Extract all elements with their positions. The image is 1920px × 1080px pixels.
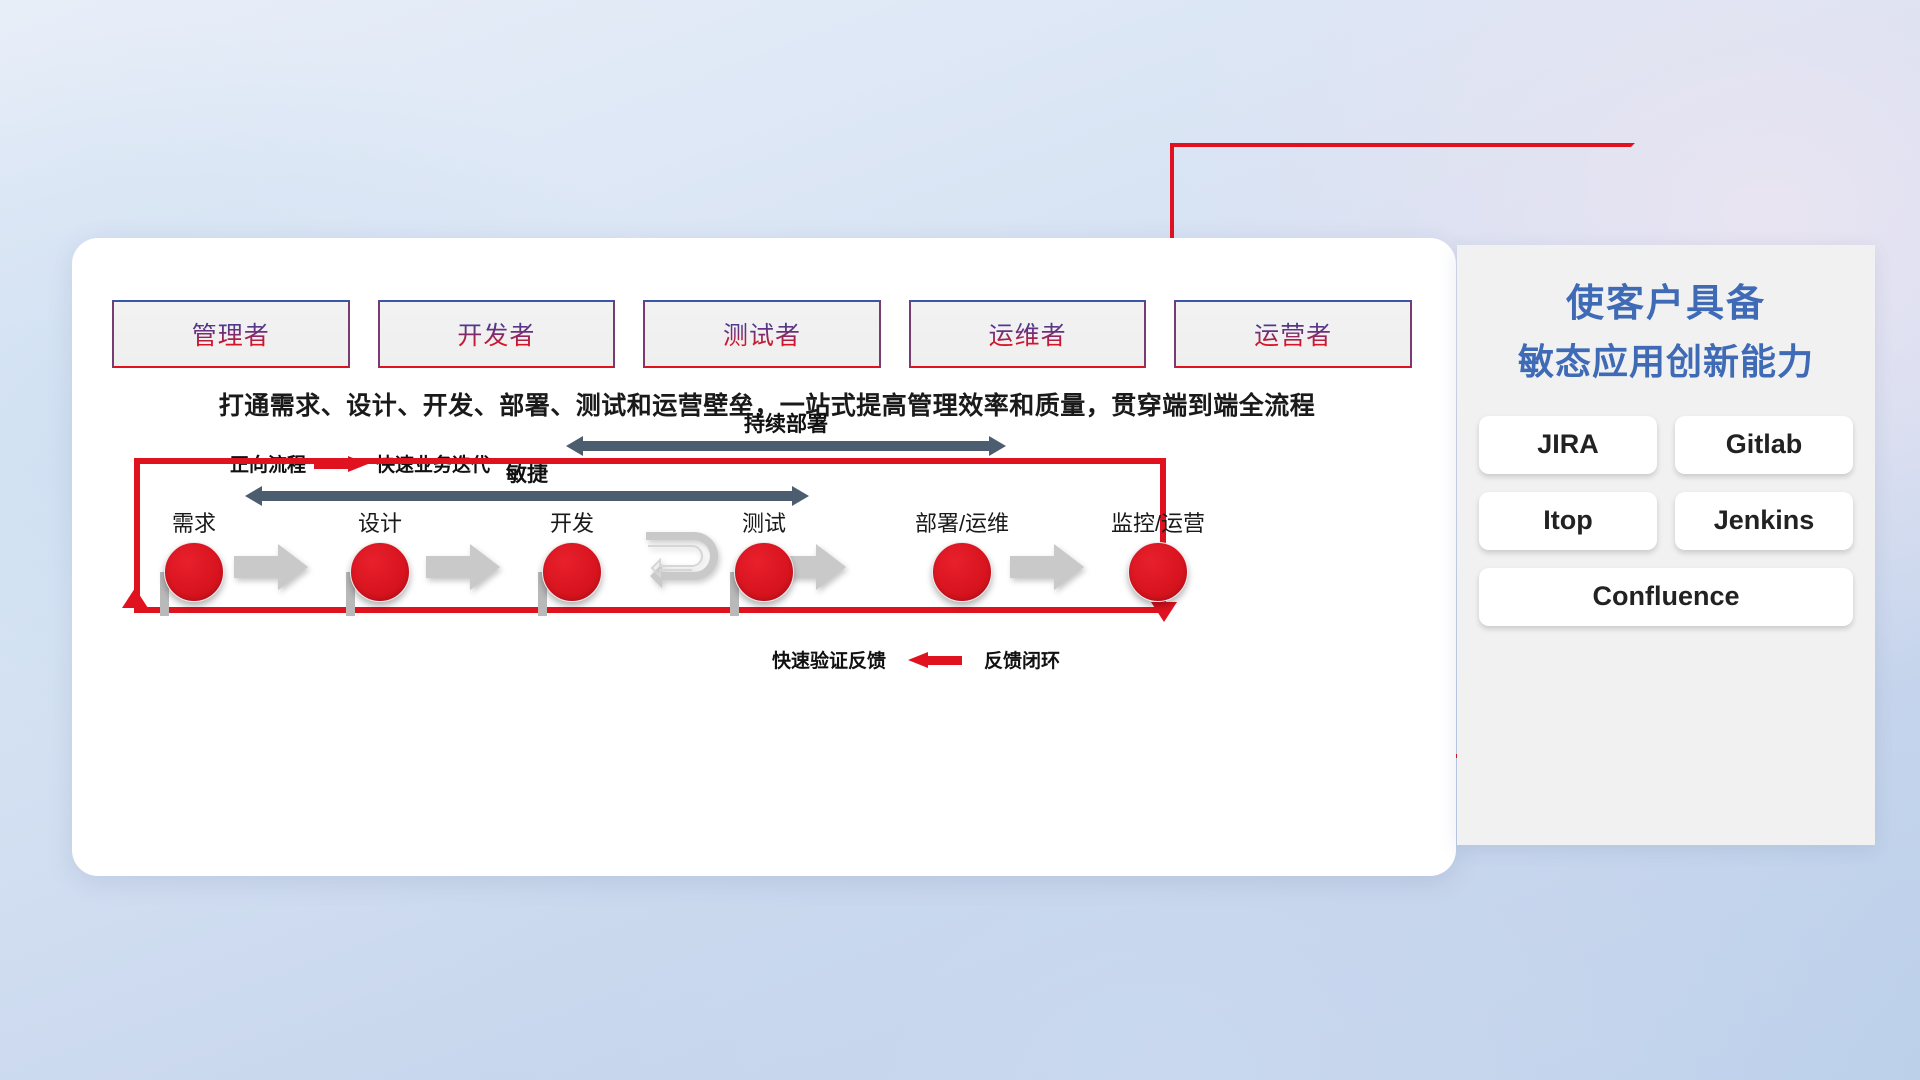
stage-testing[interactable]: 测试: [694, 506, 834, 602]
stage-circle: [542, 542, 602, 602]
tool-tag-gitlab[interactable]: Gitlab: [1675, 416, 1853, 474]
tool-tag-itop[interactable]: Itop: [1479, 492, 1657, 550]
stage-circle: [350, 542, 410, 602]
tools-list: JIRA Gitlab Itop Jenkins Confluence: [1479, 416, 1853, 626]
panel-title: 使客户具备 敏态应用创新能力: [1457, 275, 1875, 390]
role-box-ops[interactable]: 运维者: [909, 300, 1147, 368]
tool-tag-confluence[interactable]: Confluence: [1479, 568, 1853, 626]
role-label: 运营者: [1254, 316, 1332, 352]
main-diagram-card: 管理者 开发者 测试者 运维者 运营者 打通需求、设计、开发、部署、测试和运营壁…: [72, 238, 1456, 876]
double-arrow-continuous-deployment-icon: [566, 436, 1006, 456]
legend-feedback-loop: 快速验证反馈 反馈闭环: [772, 646, 1060, 673]
role-label: 测试者: [723, 316, 801, 352]
stage-circle: [1128, 542, 1188, 602]
span-label-continuous-deployment: 持续部署: [566, 408, 1006, 438]
stage-label: 需求: [124, 506, 264, 538]
stage-development[interactable]: 开发: [502, 506, 642, 602]
role-box-tester[interactable]: 测试者: [643, 300, 881, 368]
role-label: 开发者: [457, 316, 535, 352]
stage-deploy-ops[interactable]: 部署/运维: [892, 506, 1032, 602]
role-label: 管理者: [192, 316, 270, 352]
role-box-operations[interactable]: 运营者: [1174, 300, 1412, 368]
stage-circle: [932, 542, 992, 602]
stage-circle: [164, 542, 224, 602]
arrow-left-red-icon: [908, 652, 962, 668]
legend-feedback-left-label: 快速验证反馈: [772, 646, 886, 673]
stage-circle: [734, 542, 794, 602]
tool-tag-jira[interactable]: JIRA: [1479, 416, 1657, 474]
arrow-head-right: [989, 436, 1006, 456]
right-side-panel: 使客户具备 敏态应用创新能力 JIRA Gitlab Itop Jenkins …: [1457, 245, 1875, 845]
stage-monitor-operations[interactable]: 监控/运营: [1088, 506, 1228, 602]
panel-title-line2: 敏态应用创新能力: [1457, 334, 1875, 390]
stage-label: 测试: [694, 506, 834, 538]
stage-design[interactable]: 设计: [310, 506, 450, 602]
stage-label: 监控/运营: [1088, 506, 1228, 538]
arrow-bar: [582, 441, 990, 451]
stages-row: 需求 设计 开发 测试 部署/运维 监控/运营: [102, 506, 1432, 626]
stage-label: 开发: [502, 506, 642, 538]
tool-tag-jenkins[interactable]: Jenkins: [1675, 492, 1853, 550]
stage-label: 部署/运维: [892, 506, 1032, 538]
role-box-developer[interactable]: 开发者: [378, 300, 616, 368]
roles-row: 管理者 开发者 测试者 运维者 运营者: [112, 300, 1412, 368]
stage-label: 设计: [310, 506, 450, 538]
role-label: 运维者: [989, 316, 1067, 352]
arrow-head-left: [566, 436, 583, 456]
panel-title-line1: 使客户具备: [1457, 275, 1875, 334]
role-box-manager[interactable]: 管理者: [112, 300, 350, 368]
stage-requirements[interactable]: 需求: [124, 506, 264, 602]
legend-feedback-right-label: 反馈闭环: [984, 646, 1060, 673]
